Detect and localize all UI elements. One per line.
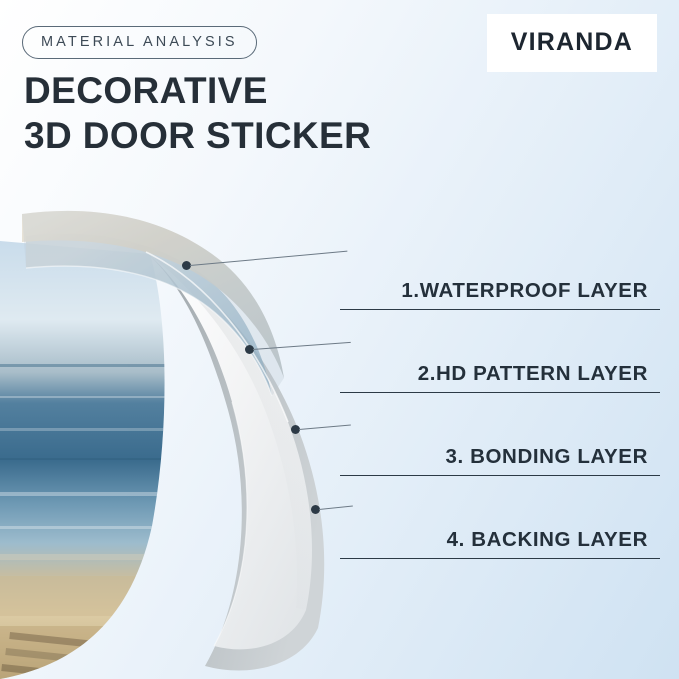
photo-layer xyxy=(0,241,170,679)
page-title-line1: DECORATIVE xyxy=(24,70,268,111)
layer-row-3: 3. BONDING LAYER xyxy=(340,398,660,481)
layer-label-2: 2.HD PATTERN LAYER xyxy=(418,362,648,386)
layer-row-2: 2.HD PATTERN LAYER xyxy=(340,315,660,398)
layer-label-3: 3. BONDING LAYER xyxy=(446,445,649,469)
layer-row-1: 1.WATERPROOF LAYER xyxy=(340,232,660,315)
layer-rule-3 xyxy=(340,475,660,477)
layer-label-1: 1.WATERPROOF LAYER xyxy=(401,279,648,303)
poster-root: MATERIAL ANALYSIS DECORATIVE 3D DOOR STI… xyxy=(0,0,679,679)
page-title: DECORATIVE 3D DOOR STICKER xyxy=(24,68,371,158)
layer-label-list: 1.WATERPROOF LAYER 2.HD PATTERN LAYER 3.… xyxy=(340,232,660,564)
layer-rule-4 xyxy=(340,558,660,560)
layer-rule-1 xyxy=(340,309,660,311)
brand-name: VIRANDA xyxy=(511,28,633,57)
layer-rule-2 xyxy=(340,392,660,394)
layer-label-4: 4. BACKING LAYER xyxy=(447,528,648,552)
page-title-line2: 3D DOOR STICKER xyxy=(24,113,371,158)
brand-logo-box: VIRANDA xyxy=(487,14,657,72)
layer-row-4: 4. BACKING LAYER xyxy=(340,481,660,564)
material-analysis-badge: MATERIAL ANALYSIS xyxy=(22,26,257,59)
